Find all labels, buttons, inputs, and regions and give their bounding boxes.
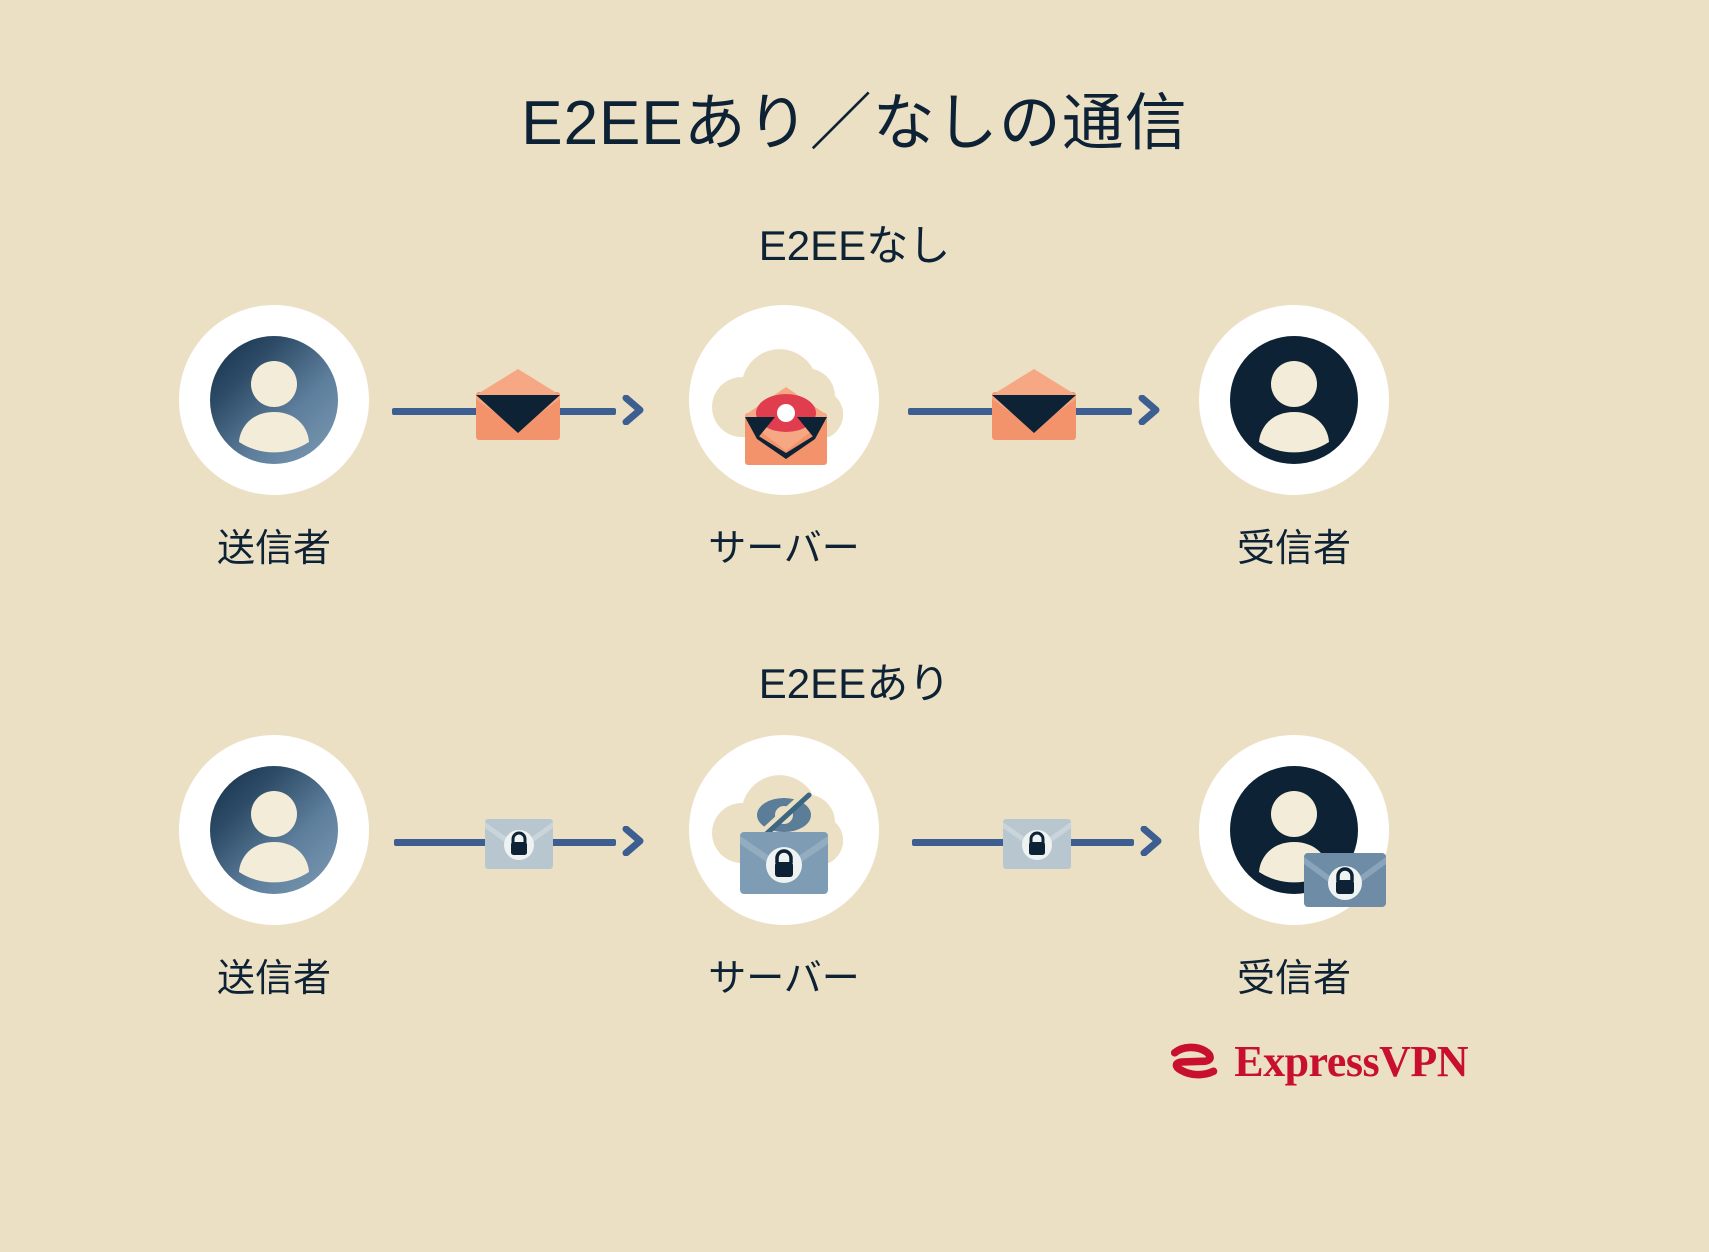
locked-envelope-icon-2 [1002, 818, 1072, 875]
arrow-head-icon [614, 826, 644, 856]
expressvpn-logo: ExpressVPN [1168, 1030, 1468, 1094]
person-glyph-icon [210, 336, 338, 464]
person-glyph-icon [1230, 336, 1358, 464]
node-server-row1: サーバー [654, 305, 914, 572]
sender-icon-row2 [179, 735, 369, 925]
page-title: E2EEあり／なしの通信 [0, 72, 1709, 162]
locked-envelope-icon-1 [484, 818, 554, 875]
section-label-with-e2ee: E2EEあり [0, 650, 1709, 711]
node-caption: 受信者 [1164, 517, 1424, 572]
node-caption: サーバー [654, 517, 914, 572]
node-receiver-row2: 受信者 [1164, 735, 1424, 1002]
node-server-row2: サーバー [654, 735, 914, 1002]
arrow-head-icon [1130, 395, 1160, 425]
expressvpn-wordmark: ExpressVPN [1234, 1040, 1468, 1084]
server-icon-row1 [689, 305, 879, 495]
node-sender-row1: 送信者 [144, 305, 404, 572]
receiver-icon-row1 [1199, 305, 1389, 495]
open-envelope-icon-2 [990, 368, 1078, 447]
node-caption: 送信者 [144, 517, 404, 572]
cloud-open-envelope-eye-icon [689, 305, 879, 495]
node-receiver-row1: 受信者 [1164, 305, 1424, 572]
cloud-locked-envelope-eye-off-icon [689, 735, 879, 925]
user-avatar-gradient-icon [210, 766, 338, 894]
user-avatar-dark-icon [1230, 336, 1358, 464]
node-caption: サーバー [654, 947, 914, 1002]
diagram-canvas: E2EEあり／なしの通信 E2EEなし 送信者 [0, 0, 1709, 1252]
arrow-head-icon [1132, 826, 1162, 856]
section-label-no-e2ee: E2EEなし [0, 212, 1709, 273]
user-avatar-gradient-icon [210, 336, 338, 464]
open-envelope-icon-1 [474, 368, 562, 447]
person-glyph-icon [210, 766, 338, 894]
locked-envelope-overlay-icon [1303, 845, 1387, 909]
arrow-head-icon [614, 395, 644, 425]
node-sender-row2: 送信者 [144, 735, 404, 1002]
node-caption: 受信者 [1164, 947, 1424, 1002]
expressvpn-logo-icon [1168, 1037, 1220, 1087]
sender-icon-row1 [179, 305, 369, 495]
server-icon-row2 [689, 735, 879, 925]
receiver-icon-row2 [1199, 735, 1389, 925]
node-caption: 送信者 [144, 947, 404, 1002]
